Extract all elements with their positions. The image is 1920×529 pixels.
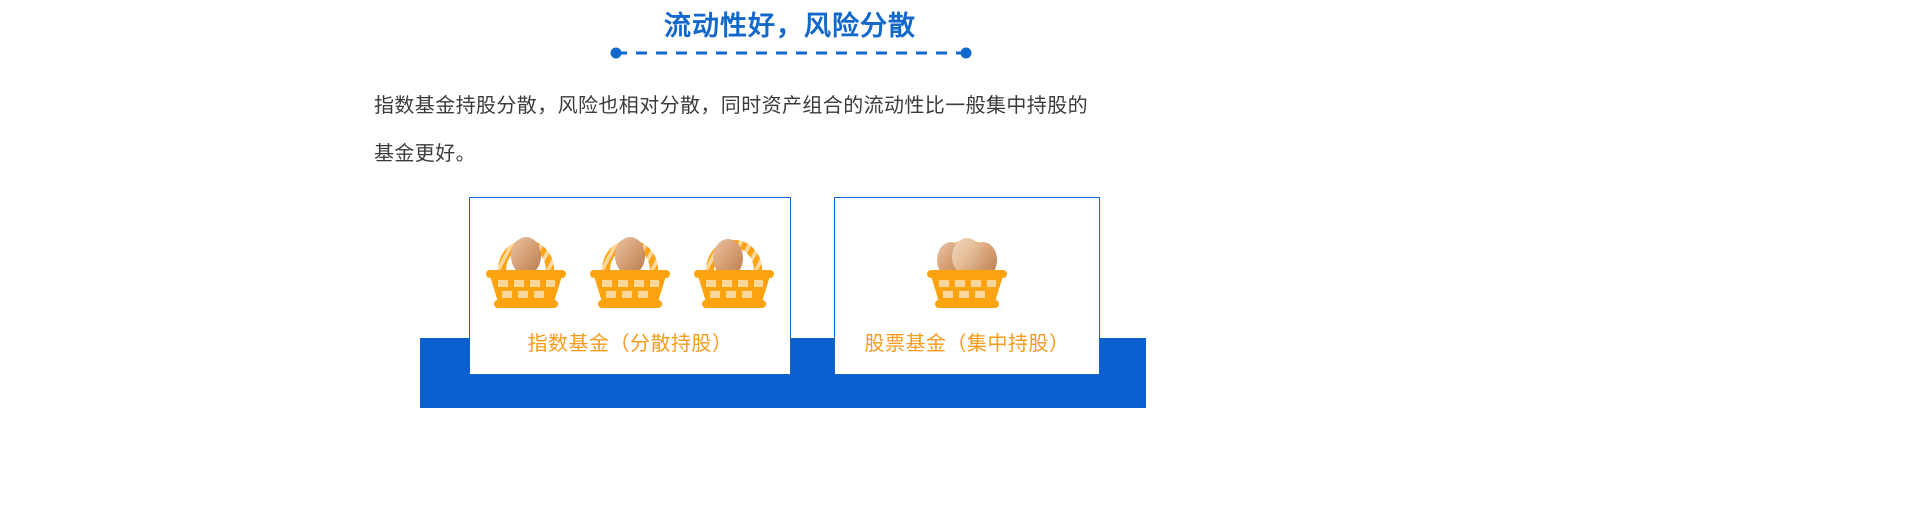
page-title: 流动性好，风险分散 — [540, 6, 1040, 46]
paragraph-line-2: 基金更好。 — [374, 130, 1204, 178]
dashed-line-icon — [610, 47, 972, 59]
basket-one-egg-icon — [480, 208, 572, 312]
basket-one-egg-icon — [688, 208, 780, 312]
card-index-fund: 指数基金（分散持股） — [469, 197, 791, 375]
card-stock-fund: 股票基金（集中持股） — [834, 197, 1100, 375]
body-paragraph: 指数基金持股分散，风险也相对分散，同时资产组合的流动性比一般集中持股的 基金更好… — [374, 82, 1204, 178]
card-label-index-fund: 指数基金（分散持股） — [470, 327, 790, 356]
title-divider — [610, 47, 972, 59]
basket-row-stock-fund — [835, 206, 1099, 314]
card-label-stock-fund: 股票基金（集中持股） — [835, 327, 1099, 356]
slide-canvas: 流动性好，风险分散 指数基金持股分散，风险也相对分散，同时资产组合的流动性比一般… — [0, 0, 1920, 529]
basket-row-index-fund — [470, 206, 790, 314]
basket-three-eggs-icon — [917, 208, 1017, 312]
page-title-block: 流动性好，风险分散 — [540, 6, 1040, 46]
basket-one-egg-icon — [584, 208, 676, 312]
paragraph-line-1: 指数基金持股分散，风险也相对分散，同时资产组合的流动性比一般集中持股的 — [374, 82, 1204, 130]
